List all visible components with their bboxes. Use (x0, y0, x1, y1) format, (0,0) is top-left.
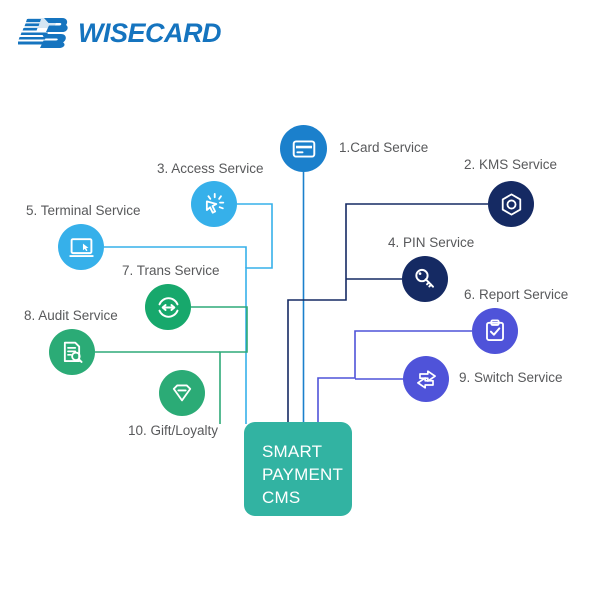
document-search-icon (59, 339, 85, 365)
label-trans-service: 7. Trans Service (122, 264, 220, 278)
exchange-circle-icon (155, 294, 182, 321)
node-access-service[interactable] (191, 181, 237, 227)
label-audit-service: 8. Audit Service (24, 309, 118, 323)
node-gift-loyalty[interactable] (159, 370, 205, 416)
label-pin-service: 4. PIN Service (388, 236, 474, 250)
cms-line-3: CMS (262, 486, 352, 509)
node-trans-service[interactable] (145, 284, 191, 330)
credit-card-icon (291, 136, 317, 162)
monitor-cursor-icon (68, 234, 95, 261)
label-report-service: 6. Report Service (464, 288, 568, 302)
wire-access-service (237, 204, 272, 424)
diamond-gem-icon (169, 380, 195, 406)
clipboard-check-icon (482, 318, 508, 344)
label-card-service: 1.Card Service (339, 141, 428, 155)
node-terminal-service[interactable] (58, 224, 104, 270)
click-cursor-icon (201, 191, 228, 218)
label-switch-service: 9. Switch Service (459, 371, 563, 385)
node-card-service[interactable] (280, 125, 327, 172)
label-kms-service: 2. KMS Service (464, 158, 557, 172)
smart-payment-cms-box[interactable]: SMART PAYMENT CMS (244, 422, 352, 516)
node-switch-service[interactable] (403, 356, 449, 402)
node-report-service[interactable] (472, 308, 518, 354)
cms-line-1: SMART (262, 440, 352, 463)
node-pin-service[interactable] (402, 256, 448, 302)
hex-nut-icon (498, 191, 525, 218)
architecture-diagram-page: WISECARD 1.Card Service (0, 0, 600, 600)
node-kms-service[interactable] (488, 181, 534, 227)
label-access-service: 3. Access Service (157, 162, 264, 176)
key-icon (412, 266, 438, 292)
cms-line-2: PAYMENT (262, 463, 352, 486)
label-gift-loyalty: 10. Gift/Loyalty (128, 424, 218, 438)
switch-arrows-icon (413, 366, 440, 393)
label-terminal-service: 5. Terminal Service (26, 204, 141, 218)
node-audit-service[interactable] (49, 329, 95, 375)
